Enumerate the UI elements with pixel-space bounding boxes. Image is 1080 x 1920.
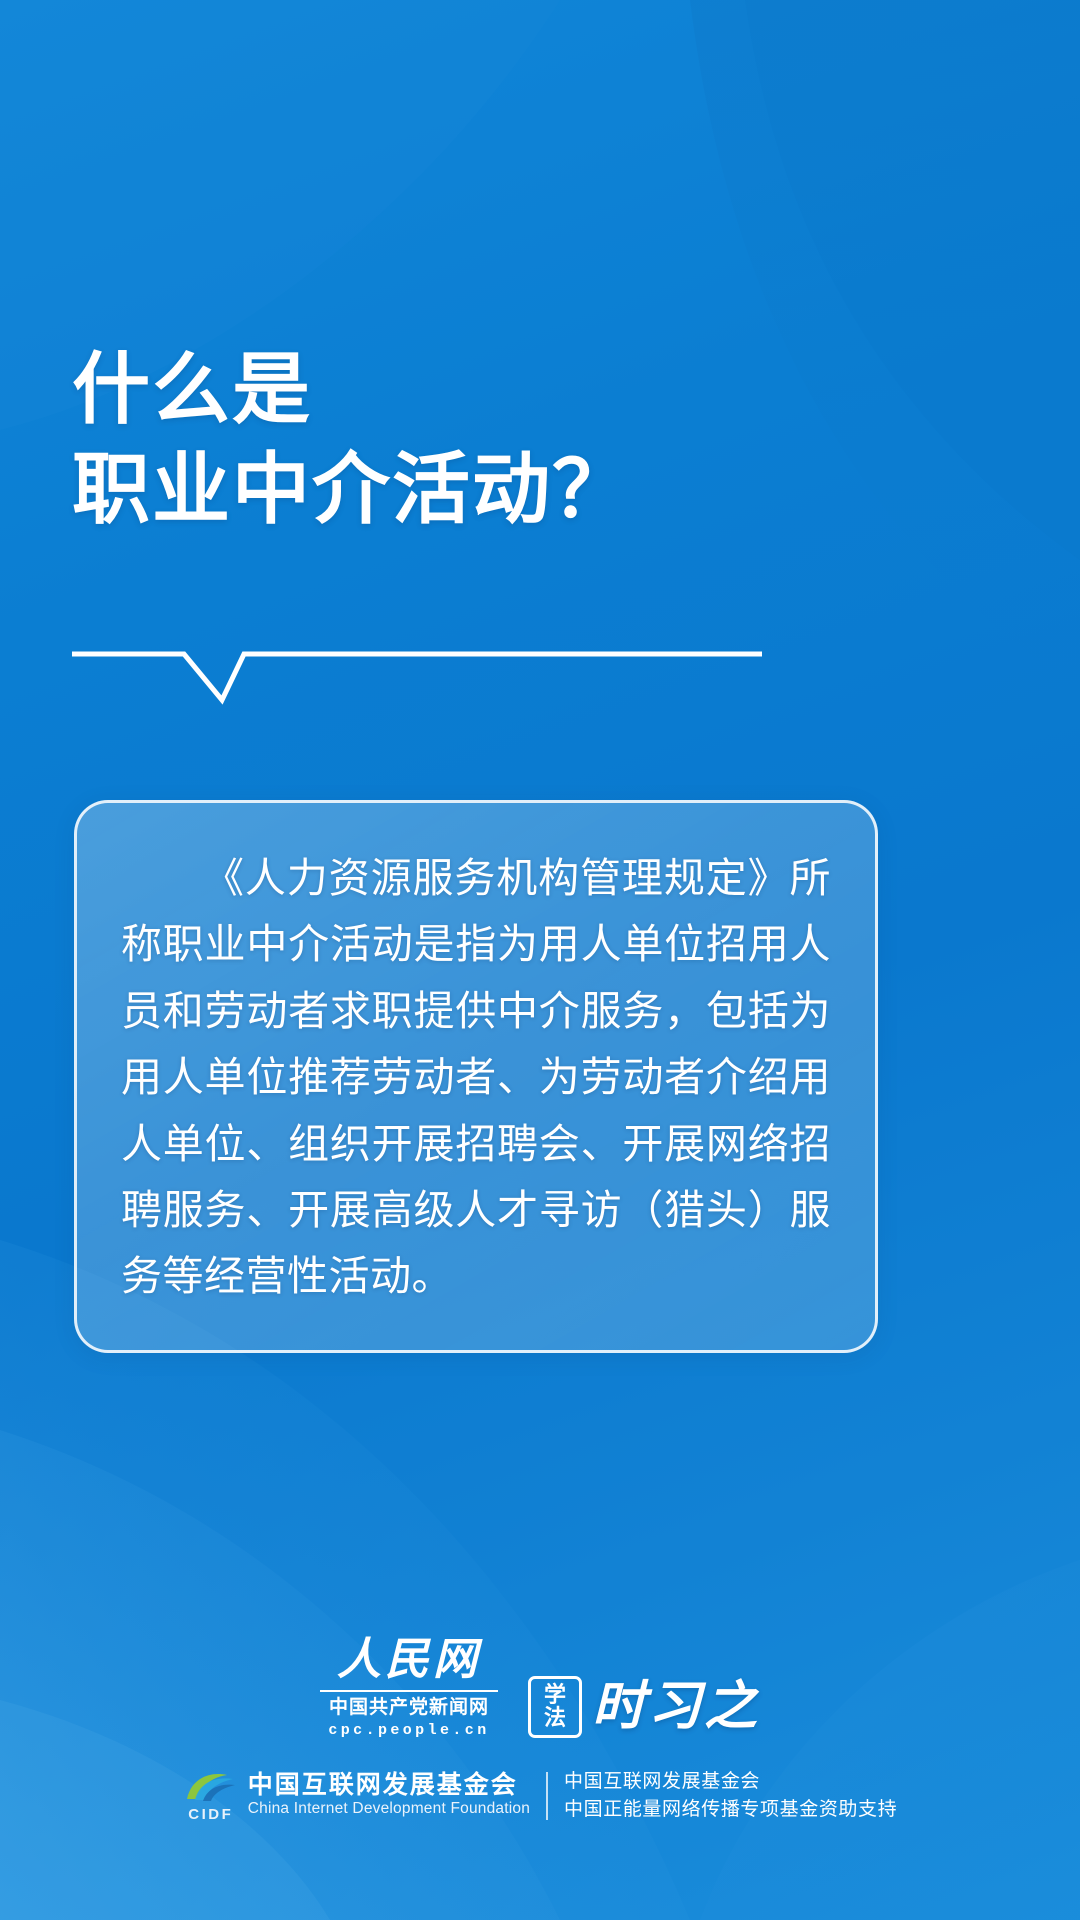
peoples-daily-divider <box>320 1690 498 1692</box>
content-card: 《人力资源服务机构管理规定》所称职业中介活动是指为用人单位招用人员和劳动者求职提… <box>74 800 878 1353</box>
cidf-support-line-2: 中国正能量网络传播专项基金资助支持 <box>564 1796 897 1824</box>
cidf-abbreviation: CIDF <box>188 1806 233 1823</box>
poster-root: 什么是 职业中介活动？ 《人力资源服务机构管理规定》所称职业中介活动是指为用人单… <box>0 0 1080 1920</box>
cidf-support-line-1: 中国互联网发展基金会 <box>564 1768 897 1796</box>
page-title: 什么是 职业中介活动？ <box>72 340 1012 540</box>
title-line-2: 职业中介活动？ <box>72 440 1012 540</box>
cidf-footer-row: CIDF 中国互联网发展基金会 China Internet Developme… <box>0 1768 1080 1823</box>
peoples-daily-cn-name: 中国共产党新闻网 <box>329 1697 489 1720</box>
xuefa-badge-top: 学 <box>544 1684 566 1707</box>
cidf-vertical-divider <box>546 1772 548 1820</box>
footer-logo-row: 人民网 中国共产党新闻网 cpc.people.cn 学 法 时习之 <box>0 1638 1080 1742</box>
peoples-daily-url: cpc.people.cn <box>328 1720 489 1743</box>
cidf-support-block: 中国互联网发展基金会 中国正能量网络传播专项基金资助支持 <box>564 1768 897 1823</box>
cidf-logo-mark: CIDF <box>183 1769 239 1823</box>
title-underline-notch <box>72 648 762 708</box>
xuefa-badge-bottom: 法 <box>544 1707 566 1730</box>
cidf-swoosh-icon <box>183 1769 239 1803</box>
xuefa-shixizhi-logo[interactable]: 学 法 时习之 <box>528 1676 760 1742</box>
peoples-daily-wordmark: 人民网 <box>337 1638 481 1688</box>
content-paragraph: 《人力资源服务机构管理规定》所称职业中介活动是指为用人单位招用人员和劳动者求职提… <box>121 845 831 1310</box>
cidf-cn-name: 中国互联网发展基金会 <box>248 1771 530 1799</box>
footer: 人民网 中国共产党新闻网 cpc.people.cn 学 法 时习之 <box>0 1620 1080 1920</box>
title-line-1: 什么是 <box>72 340 1012 440</box>
cidf-name-block: 中国互联网发展基金会 China Internet Development Fo… <box>248 1771 530 1819</box>
peoples-daily-logo[interactable]: 人民网 中国共产党新闻网 cpc.people.cn <box>320 1638 498 1742</box>
xuefa-wordmark: 时习之 <box>592 1681 760 1734</box>
cidf-en-name: China Internet Development Foundation <box>248 1799 530 1819</box>
xuefa-badge: 学 法 <box>528 1676 582 1738</box>
title-underline-svg <box>72 648 762 708</box>
